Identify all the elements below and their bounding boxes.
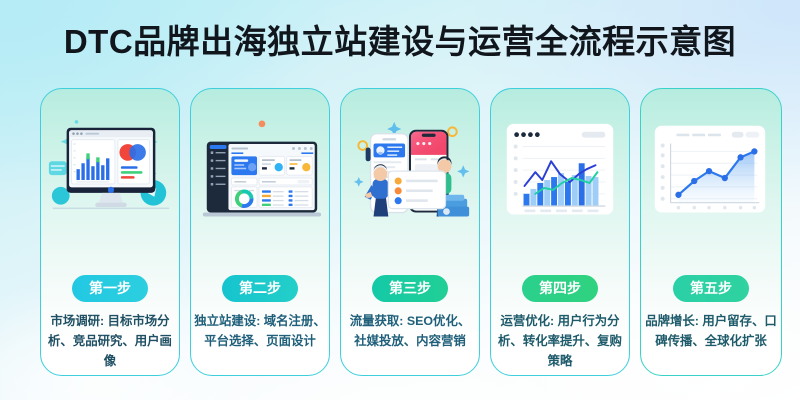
step-badge: 第四步 bbox=[522, 275, 598, 302]
step-badge: 第一步 bbox=[72, 275, 148, 302]
step-card-4[interactable]: 第四步 运营优化: 用户行为分析、转化率提升、复购策略 bbox=[490, 88, 630, 376]
step-description: 流量获取: SEO优化、社媒投放、内容营销 bbox=[341, 311, 479, 351]
infographic-canvas: DTC品牌出海独立站建设与运营全流程示意图 bbox=[0, 0, 800, 400]
step-badge: 第五步 bbox=[673, 275, 749, 302]
step-description: 运营优化: 用户行为分析、转化率提升、复购策略 bbox=[491, 311, 629, 371]
illustration-laptop-admin-dashboard bbox=[191, 95, 329, 267]
illustration-bar-line-combo-chart-card bbox=[491, 95, 629, 267]
step-badge: 第三步 bbox=[372, 275, 448, 302]
step-badge: 第二步 bbox=[222, 275, 298, 302]
illustration-desktop-monitor-analytics-dashboard bbox=[41, 95, 179, 267]
illustration-area-growth-chart-card bbox=[641, 95, 781, 267]
step-description: 独立站建设: 域名注册、平台选择、页面设计 bbox=[191, 311, 329, 351]
step-card-2[interactable]: 第二步 独立站建设: 域名注册、平台选择、页面设计 bbox=[190, 88, 330, 376]
step-description: 品牌增长: 用户留存、口碑传播、全球化扩张 bbox=[641, 311, 781, 351]
step-description: 市场调研: 目标市场分析、竞品研究、用户画像 bbox=[41, 311, 179, 371]
step-card-5[interactable]: 第五步 品牌增长: 用户留存、口碑传播、全球化扩张 bbox=[640, 88, 782, 376]
page-title: DTC品牌出海独立站建设与运营全流程示意图 bbox=[0, 22, 800, 62]
step-card-1[interactable]: 第一步 市场调研: 目标市场分析、竞品研究、用户画像 bbox=[40, 88, 180, 376]
step-card-3[interactable]: 第三步 流量获取: SEO优化、社媒投放、内容营销 bbox=[340, 88, 480, 376]
illustration-people-mobile-marketing bbox=[341, 95, 479, 267]
